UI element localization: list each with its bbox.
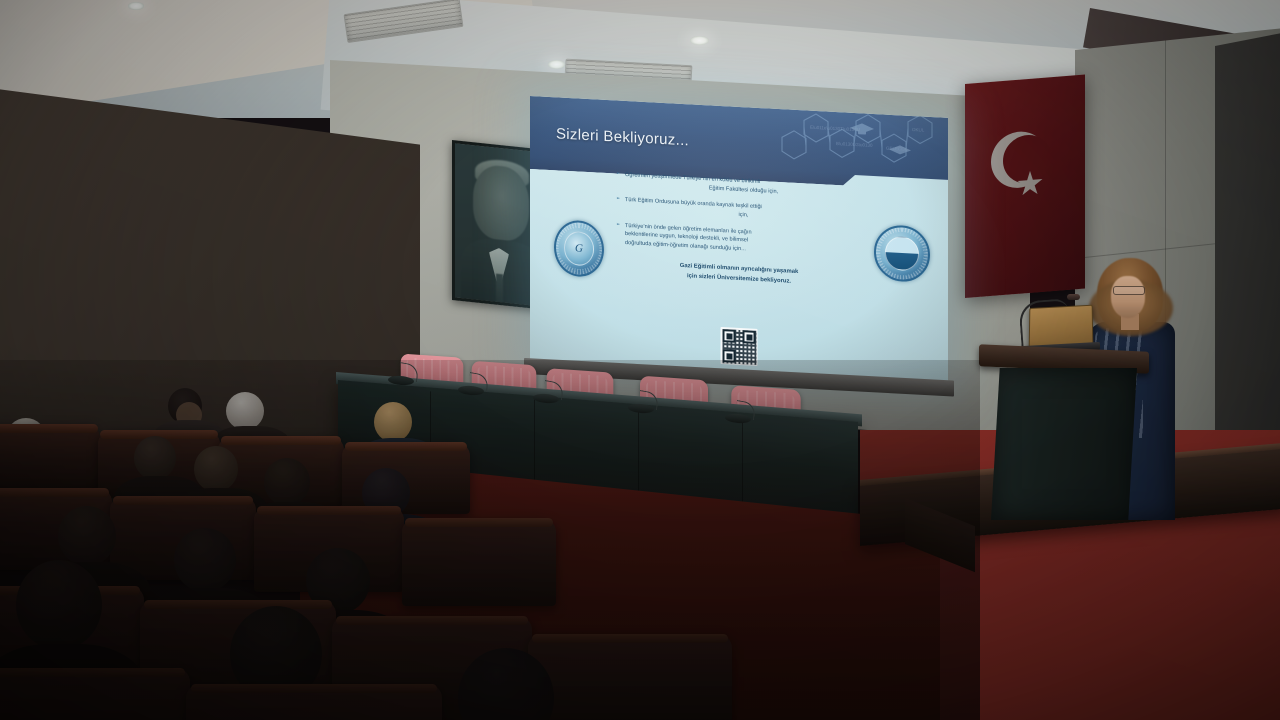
hexagon-network-decoration: E\u011e\u0130T\u0130M B\u0130LG\u0130 GE… xyxy=(774,105,948,180)
projection-screen: E\u011e\u0130T\u0130M B\u0130LG\u0130 GE… xyxy=(530,96,948,386)
slide-body: G ➢ Öğretmen yetiştirmede Türkiye’nin en… xyxy=(530,158,948,386)
gazi-education-faculty-logo xyxy=(874,224,930,283)
slide-bullet-list: ➢ Öğretmen yetiştirmede Türkiye’nin en k… xyxy=(616,171,862,291)
ceiling-light-3 xyxy=(690,36,709,45)
gazi-university-logo: G xyxy=(554,219,604,278)
svg-text:B\u0130LG\u0130: B\u0130LG\u0130 xyxy=(836,141,873,148)
auditorium-seat xyxy=(186,684,442,720)
slide-closing-text: Gazi Eğitimli olmanın ayrıcalığını yaşam… xyxy=(616,257,862,291)
svg-text:E\u011e\u0130T\u0130M: E\u011e\u0130T\u0130M xyxy=(810,125,861,133)
chevron-right-icon: ➢ xyxy=(616,196,620,204)
turkish-flag xyxy=(965,75,1085,298)
list-item: ➢ Türk Eğitim Ordusuna büyük oranda kayn… xyxy=(616,196,862,226)
presentation-slide: E\u011e\u0130T\u0130M B\u0130LG\u0130 GE… xyxy=(530,96,948,386)
list-item: ➢ Öğretmen yetiştirmede Türkiye’nin en k… xyxy=(616,171,862,201)
podium-body xyxy=(991,368,1137,520)
qr-code xyxy=(721,327,758,366)
auditorium-seat xyxy=(528,634,732,720)
auditorium-seat xyxy=(0,424,100,490)
auditorium-scene: E\u011e\u0130T\u0130M B\u0130LG\u0130 GE… xyxy=(0,0,1280,720)
ceiling-light-4 xyxy=(128,2,144,10)
presenter-face xyxy=(1111,276,1145,318)
auditorium-seat xyxy=(402,518,556,606)
chevron-right-icon: ➢ xyxy=(616,171,620,179)
chevron-right-icon: ➢ xyxy=(616,221,620,229)
slide-title: Sizleri Bekliyoruz... xyxy=(556,125,689,149)
auditorium-seat xyxy=(0,668,190,720)
ceiling-light-2 xyxy=(548,60,565,69)
list-item: ➢ Türkiye’nin önde gelen öğretim elemanl… xyxy=(616,221,862,260)
podium xyxy=(985,348,1143,518)
glasses-icon xyxy=(1113,286,1145,295)
svg-text:GELECEK: GELECEK xyxy=(886,146,907,152)
svg-text:OKUL: OKUL xyxy=(912,127,925,133)
